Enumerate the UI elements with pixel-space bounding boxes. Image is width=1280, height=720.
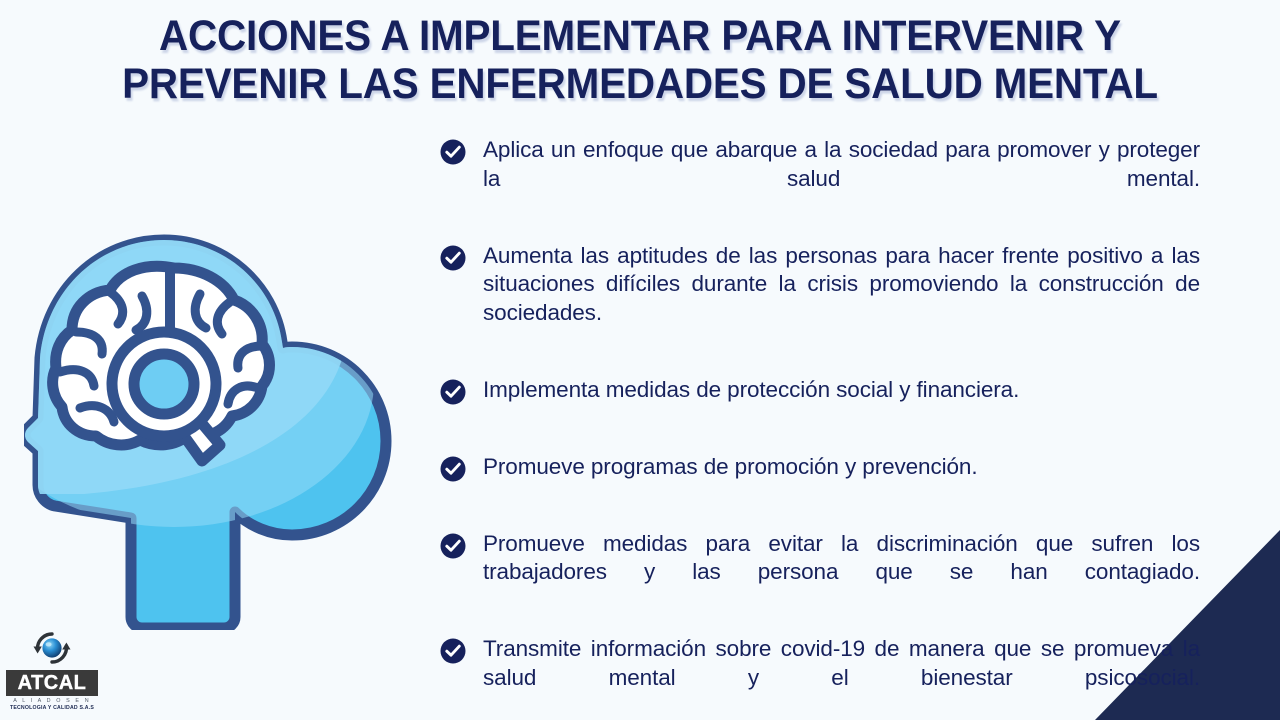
list-item: Aplica un enfoque que abarque a la socie… bbox=[440, 136, 1200, 222]
atcal-logo: ATCAL A L I A D O S E N TECNOLOGIA Y CAL… bbox=[6, 628, 118, 714]
check-circle-icon bbox=[440, 533, 466, 559]
atcal-tagline-line-1: A L I A D O S E N bbox=[6, 698, 98, 704]
list-item-text: Promueve programas de promoción y preven… bbox=[483, 453, 1200, 510]
page-title: ACCIONES A IMPLEMENTAR PARA INTERVENIR Y… bbox=[0, 12, 1280, 108]
head-with-brain-and-magnifier-illustration bbox=[24, 232, 434, 630]
check-circle-icon bbox=[440, 245, 466, 271]
atcal-wordmark-text: ATCAL bbox=[6, 670, 98, 696]
list-item: Promueve medidas para evitar la discrimi… bbox=[440, 530, 1200, 616]
list-item-text: Aumenta las aptitudes de las personas pa… bbox=[483, 242, 1200, 356]
check-circle-icon bbox=[440, 139, 466, 165]
list-item: Promueve programas de promoción y preven… bbox=[440, 453, 1200, 510]
atcal-sphere-arrows-icon bbox=[6, 628, 98, 668]
atcal-wordmark: ATCAL bbox=[6, 670, 98, 696]
list-item-text: Implementa medidas de protección social … bbox=[483, 376, 1200, 433]
check-circle-icon bbox=[440, 456, 466, 482]
list-item: Aumenta las aptitudes de las personas pa… bbox=[440, 242, 1200, 356]
slide-canvas: ACCIONES A IMPLEMENTAR PARA INTERVENIR Y… bbox=[0, 0, 1280, 720]
list-item-text: Aplica un enfoque que abarque a la socie… bbox=[483, 136, 1200, 222]
action-list: Aplica un enfoque que abarque a la socie… bbox=[440, 136, 1200, 720]
atcal-tagline-line-2: TECNOLOGIA Y CALIDAD S.A.S bbox=[6, 705, 98, 711]
list-item-text: Transmite información sobre covid-19 de … bbox=[483, 635, 1200, 720]
list-item: Implementa medidas de protección social … bbox=[440, 376, 1200, 433]
page-title-line-2: PREVENIR LAS ENFERMEDADES DE SALUD MENTA… bbox=[61, 60, 1219, 108]
page-title-line-1: ACCIONES A IMPLEMENTAR PARA INTERVENIR Y bbox=[61, 12, 1219, 60]
check-circle-icon bbox=[440, 379, 466, 405]
list-item-text: Promueve medidas para evitar la discrimi… bbox=[483, 530, 1200, 616]
list-item: Transmite información sobre covid-19 de … bbox=[440, 635, 1200, 720]
check-circle-icon bbox=[440, 638, 466, 664]
